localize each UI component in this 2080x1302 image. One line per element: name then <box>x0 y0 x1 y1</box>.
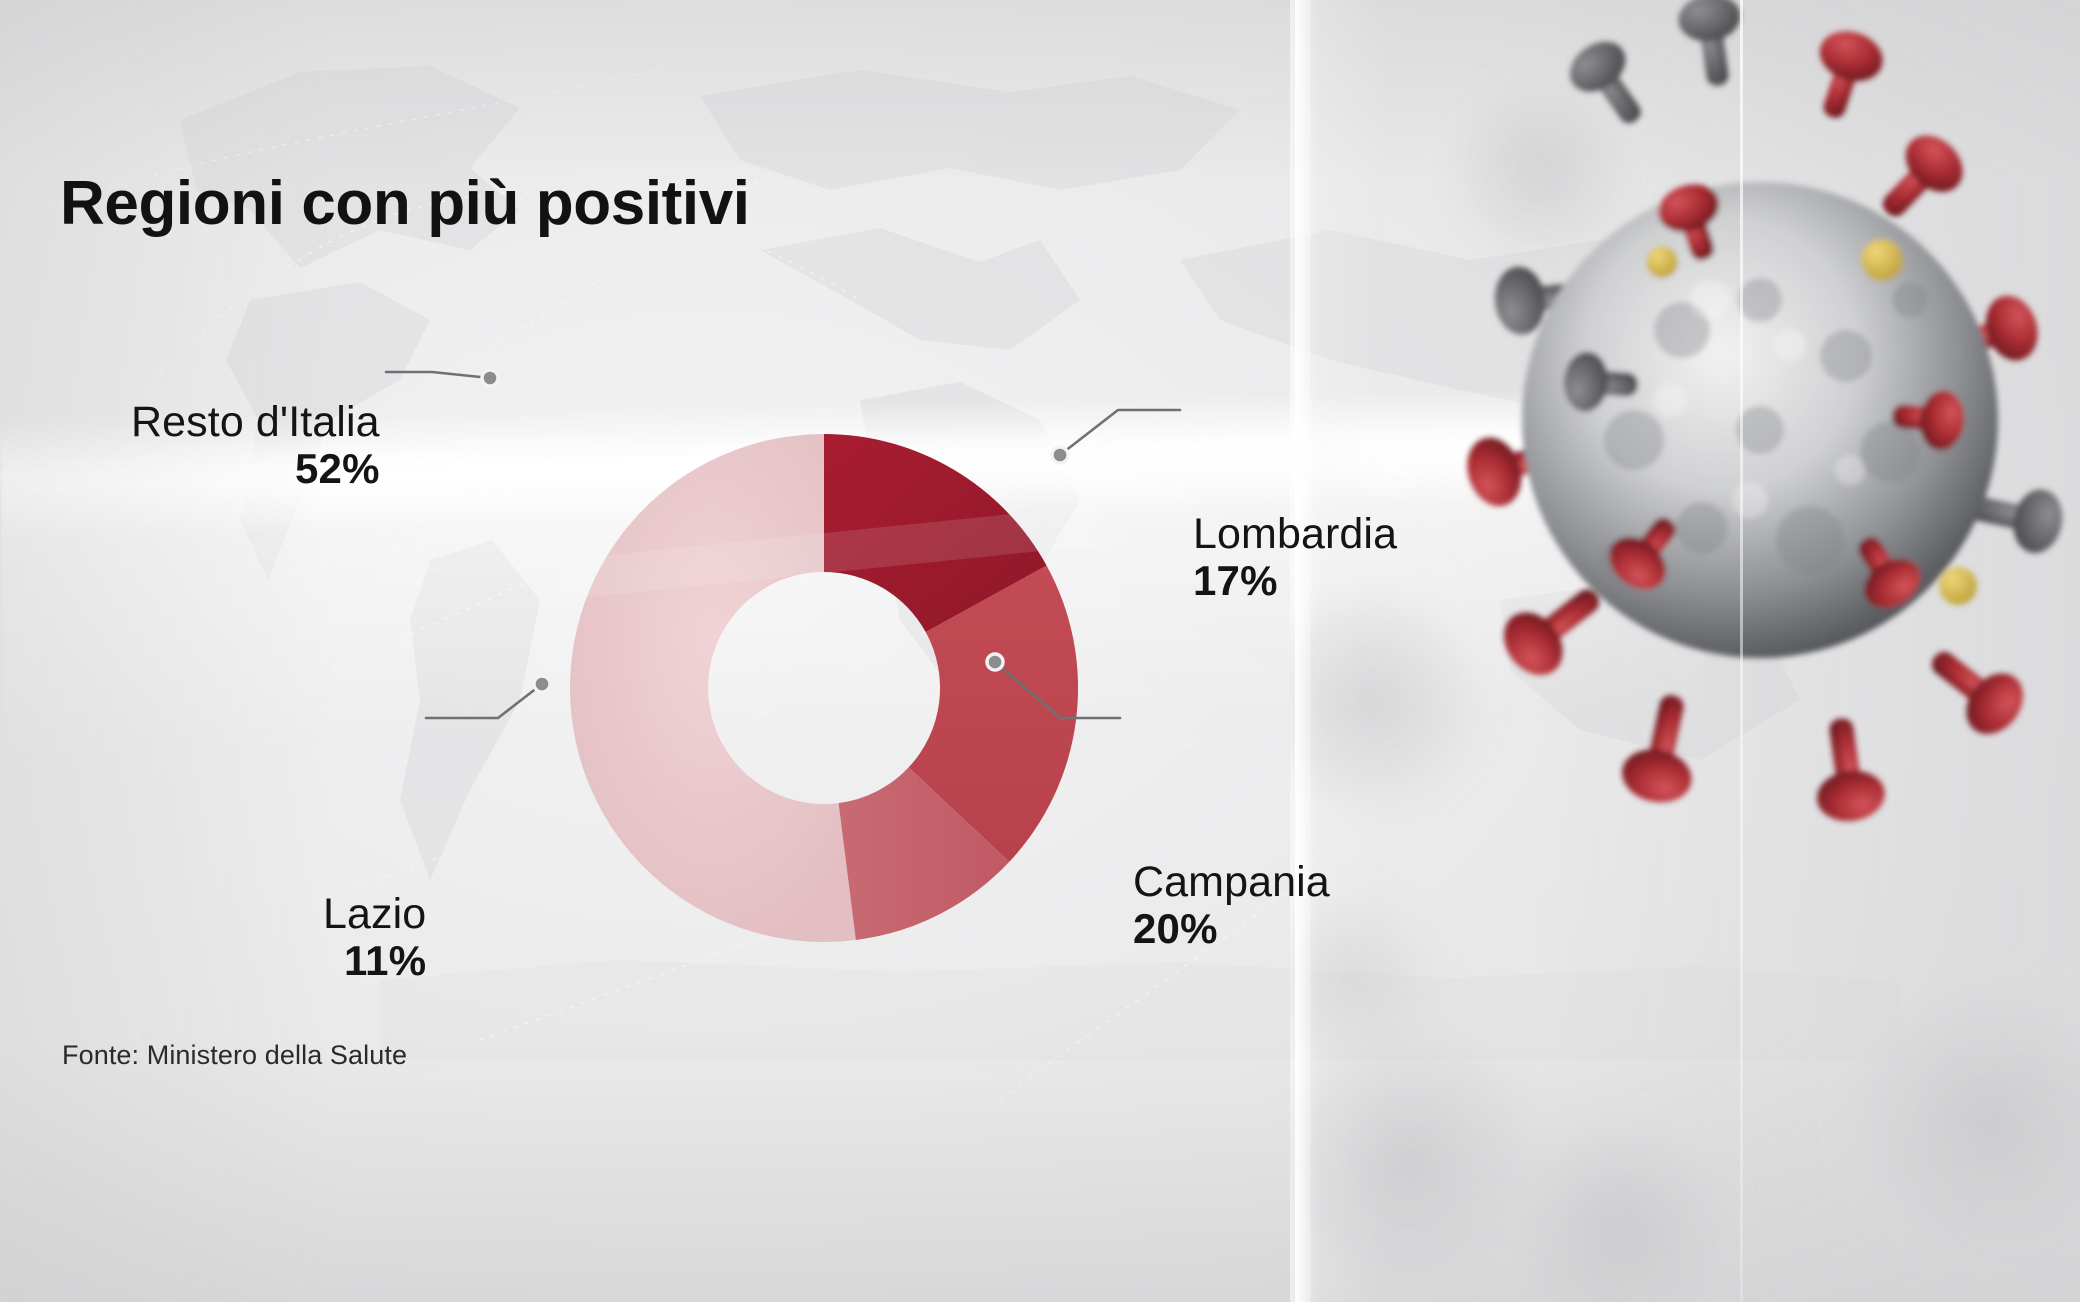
callout-campania-value: 20% <box>1133 906 1330 952</box>
callout-lombardia-value: 17% <box>1193 558 1397 604</box>
slice-resto-italia <box>570 434 856 942</box>
leader-line-lombardia <box>1060 410 1180 455</box>
callout-lazio-name: Lazio <box>323 892 426 938</box>
callout-campania: Campania 20% <box>1133 860 1330 952</box>
leader-line-resto <box>386 372 490 378</box>
leader-dot-lombardia <box>1052 447 1068 463</box>
callout-resto-italia: Resto d'Italia 52% <box>131 400 380 492</box>
callout-lombardia: Lombardia 17% <box>1193 512 1397 604</box>
callout-campania-name: Campania <box>1133 860 1330 906</box>
callout-lazio-value: 11% <box>323 938 426 984</box>
source-note: Fonte: Ministero della Salute <box>62 1040 407 1071</box>
leader-line-lazio <box>426 684 542 718</box>
leader-dot-lazio <box>534 676 550 692</box>
infographic-canvas: Regioni con più positivi <box>0 0 2080 1302</box>
callout-lombardia-name: Lombardia <box>1193 512 1397 558</box>
callout-resto-italia-value: 52% <box>131 446 380 492</box>
donut-chart <box>0 0 2080 1302</box>
callout-resto-italia-name: Resto d'Italia <box>131 400 380 446</box>
leader-dot-resto <box>482 370 498 386</box>
callout-lazio: Lazio 11% <box>323 892 426 984</box>
leader-dot-campania <box>987 654 1003 670</box>
